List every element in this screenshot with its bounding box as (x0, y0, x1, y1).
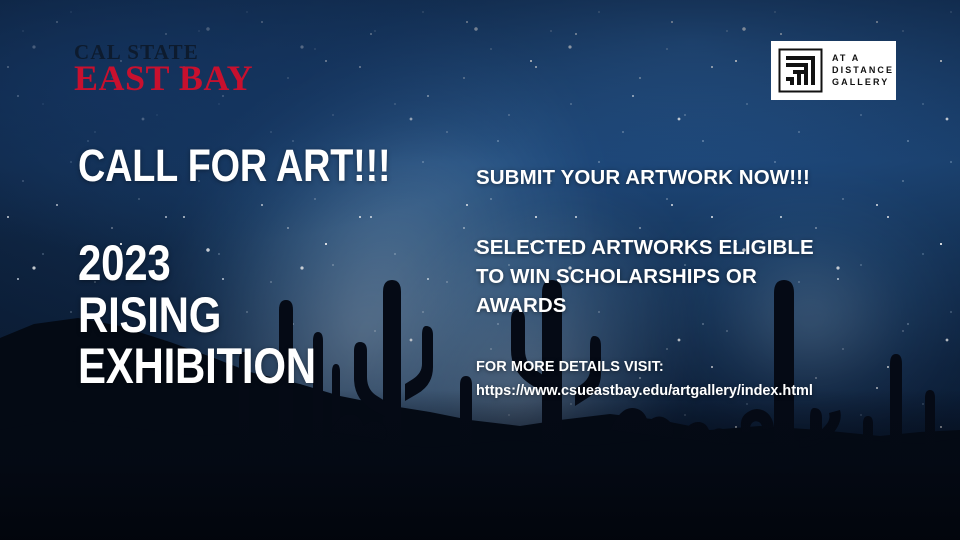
submit-callout: SUBMIT YOUR ARTWORK NOW!!! (476, 163, 896, 192)
details-block: FOR MORE DETAILS VISIT: https://www.csue… (476, 356, 896, 403)
exhibition-title-line-3: EXHIBITION (78, 341, 390, 393)
headline-call-for-art: CALL FOR ART!!! (78, 143, 390, 188)
details-label: FOR MORE DETAILS VISIT: (476, 356, 896, 379)
eligibility-block: SELECTED ARTWORKS ELIGIBLE TO WIN SCHOLA… (476, 233, 896, 320)
info-column: SUBMIT YOUR ARTWORK NOW!!! SELECTED ARTW… (476, 163, 896, 403)
eligibility-line-2: TO WIN SCHOLARSHIPS OR (476, 262, 896, 291)
gallery-logo-text: AT A DISTANCE GALLERY (832, 54, 894, 87)
exhibition-title-line-1: 2023 (78, 238, 390, 290)
exhibition-title: 2023 RISING EXHIBITION (78, 238, 390, 393)
headline-column: CALL FOR ART!!! 2023 RISING EXHIBITION (78, 143, 450, 393)
eligibility-line-1: SELECTED ARTWORKS ELIGIBLE (476, 233, 896, 262)
university-logo-line2: EAST BAY (74, 60, 253, 96)
eligibility-line-3: AWARDS (476, 291, 896, 320)
exhibition-title-line-2: RISING (78, 290, 390, 342)
university-logo: CAL STATE EAST BAY (74, 42, 253, 96)
gallery-logo-line3: GALLERY (832, 78, 894, 87)
poster-canvas: CAL STATE EAST BAY (0, 0, 960, 540)
gallery-logo-line2: DISTANCE (832, 66, 894, 75)
gallery-spiral-square-icon (778, 48, 823, 93)
gallery-logo: AT A DISTANCE GALLERY (771, 41, 896, 100)
poster-content: CAL STATE EAST BAY (0, 0, 960, 540)
details-url-link[interactable]: https://www.csueastbay.edu/artgallery/in… (476, 380, 896, 403)
gallery-logo-line1: AT A (832, 54, 894, 63)
